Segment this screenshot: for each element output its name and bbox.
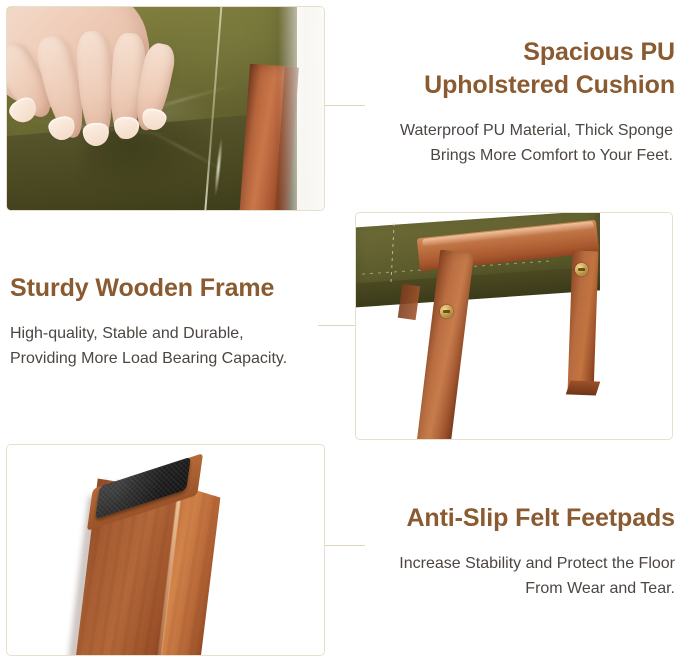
fingernail — [113, 116, 139, 140]
feature-text-frame: Sturdy Wooden Frame High-quality, Stable… — [10, 272, 340, 371]
connector-line-frame — [318, 325, 358, 326]
feature-text-cushion: Spacious PU Upholstered Cushion Waterpro… — [355, 36, 675, 168]
wooden-leg-foot — [566, 381, 600, 396]
feature-heading-cushion: Spacious PU Upholstered Cushion — [355, 36, 675, 102]
feature-body-frame-line2: Providing More Load Bearing Capacity. — [10, 350, 287, 367]
photo-edge-fade — [278, 7, 324, 210]
feature-body-cushion-line1: Waterproof PU Material, Thick Sponge — [400, 122, 673, 139]
feature-image-panel-frame — [355, 212, 673, 440]
brass-screw-icon — [575, 263, 588, 276]
feature-body-cushion-line2: Brings More Comfort to Your Feet. — [430, 147, 673, 164]
feature-body-feetpad-line1: Increase Stability and Protect the Floor — [399, 555, 675, 572]
feature-heading-cushion-line1: Spacious PU — [523, 38, 675, 66]
wooden-frame-leg-closeup-photo — [356, 213, 672, 439]
feature-body-feetpad: Increase Stability and Protect the Floor… — [355, 551, 675, 601]
feature-heading-frame: Sturdy Wooden Frame — [10, 272, 340, 305]
feature-heading-feetpad: Anti-Slip Felt Feetpads — [355, 502, 675, 535]
feature-text-feetpad: Anti-Slip Felt Feetpads Increase Stabili… — [355, 502, 675, 601]
brass-screw-icon — [440, 305, 453, 318]
hand-pressing-green-pu-cushion-photo — [7, 7, 324, 210]
feature-image-panel-feetpad — [6, 444, 325, 656]
feature-image-panel-cushion — [6, 6, 325, 211]
feature-body-cushion: Waterproof PU Material, Thick Sponge Bri… — [355, 118, 675, 168]
feature-body-frame-line1: High-quality, Stable and Durable, — [10, 325, 244, 342]
hand-illustration — [7, 7, 195, 162]
feature-heading-cushion-line2: Upholstered Cushion — [424, 71, 675, 99]
infographic-canvas: Spacious PU Upholstered Cushion Waterpro… — [0, 0, 679, 662]
fingernail — [82, 122, 110, 147]
felt-feetpad-on-leg-tip-photo — [7, 445, 324, 655]
feature-body-feetpad-line2: From Wear and Tear. — [525, 580, 675, 597]
feature-body-frame: High-quality, Stable and Durable, Provid… — [10, 321, 340, 371]
